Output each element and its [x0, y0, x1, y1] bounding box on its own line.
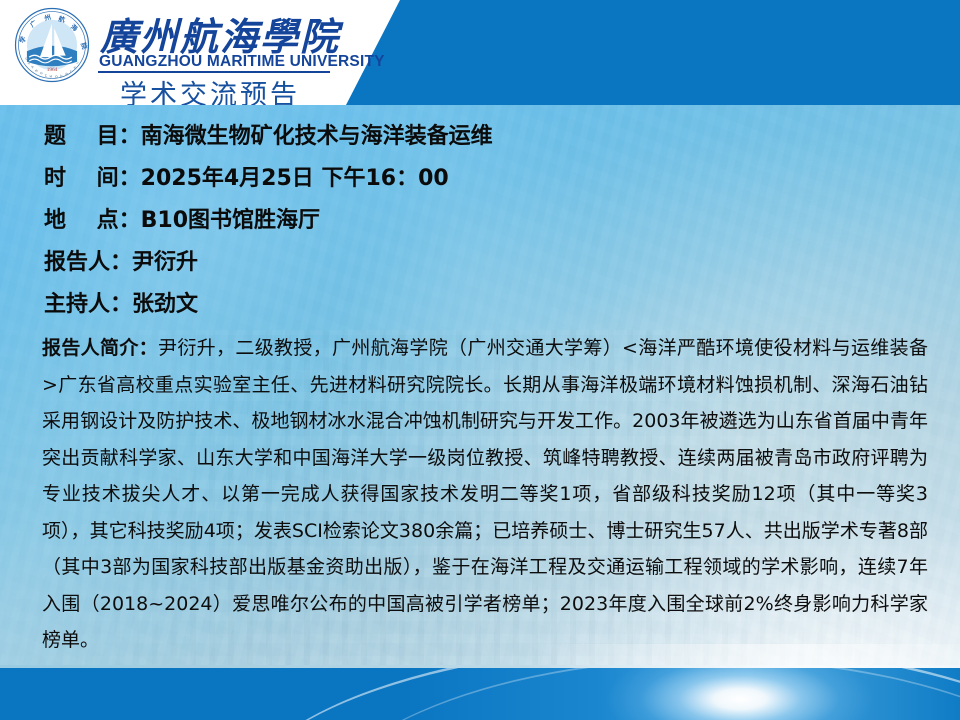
- speaker-bio: 报告人简介：尹衍升，二级教授，广州航海学院（广州交通大学筹）<海洋严酷环境使役材…: [42, 330, 928, 659]
- info-value-time: 2025年4月25日 下午16：00: [141, 160, 449, 192]
- info-label-host: 主持人：: [44, 286, 132, 318]
- info-row-time: 时 间： 2025年4月25日 下午16：00: [44, 160, 924, 202]
- info-row-speaker: 报告人： 尹衍升: [44, 244, 924, 286]
- university-seal-logo: 1964 广 州 航 海 学 院 G U A N G Z H O U M U: [14, 7, 90, 83]
- info-row-location: 地 点： B10图书馆胜海厅: [44, 202, 924, 244]
- poster-footer-band: [0, 668, 960, 720]
- info-value-host: 张劲文: [132, 286, 198, 318]
- info-label-location: 地 点：: [44, 202, 141, 234]
- speaker-bio-text: 尹衍升，二级教授，广州航海学院（广州交通大学筹）<海洋严酷环境使役材料与运维装备…: [42, 337, 928, 651]
- info-value-speaker: 尹衍升: [132, 244, 198, 276]
- poster-subtitle: 学术交流预告: [120, 73, 300, 105]
- info-label-title: 题 目：: [44, 118, 141, 150]
- info-row-host: 主持人： 张劲文: [44, 286, 924, 328]
- info-value-title: 南海微生物矿化技术与海洋装备运维: [141, 118, 493, 150]
- info-label-time: 时 间：: [44, 160, 141, 192]
- announcement-poster: 1964 广 州 航 海 学 院 G U A N G Z H O U M U: [0, 0, 960, 720]
- school-name-english: GUANGZHOU MARITIME UNIVERSITY: [99, 53, 385, 71]
- info-label-speaker: 报告人：: [44, 244, 132, 276]
- svg-text:1964: 1964: [47, 67, 58, 73]
- info-value-location: B10图书馆胜海厅: [141, 202, 320, 234]
- footer-light-burst: [575, 668, 905, 720]
- info-row-title: 题 目： 南海微生物矿化技术与海洋装备运维: [44, 118, 924, 160]
- speaker-bio-label: 报告人简介：: [42, 337, 158, 359]
- event-info-list: 题 目： 南海微生物矿化技术与海洋装备运维 时 间： 2025年4月25日 下午…: [44, 118, 924, 328]
- poster-header: 1964 广 州 航 海 学 院 G U A N G Z H O U M U: [0, 0, 960, 105]
